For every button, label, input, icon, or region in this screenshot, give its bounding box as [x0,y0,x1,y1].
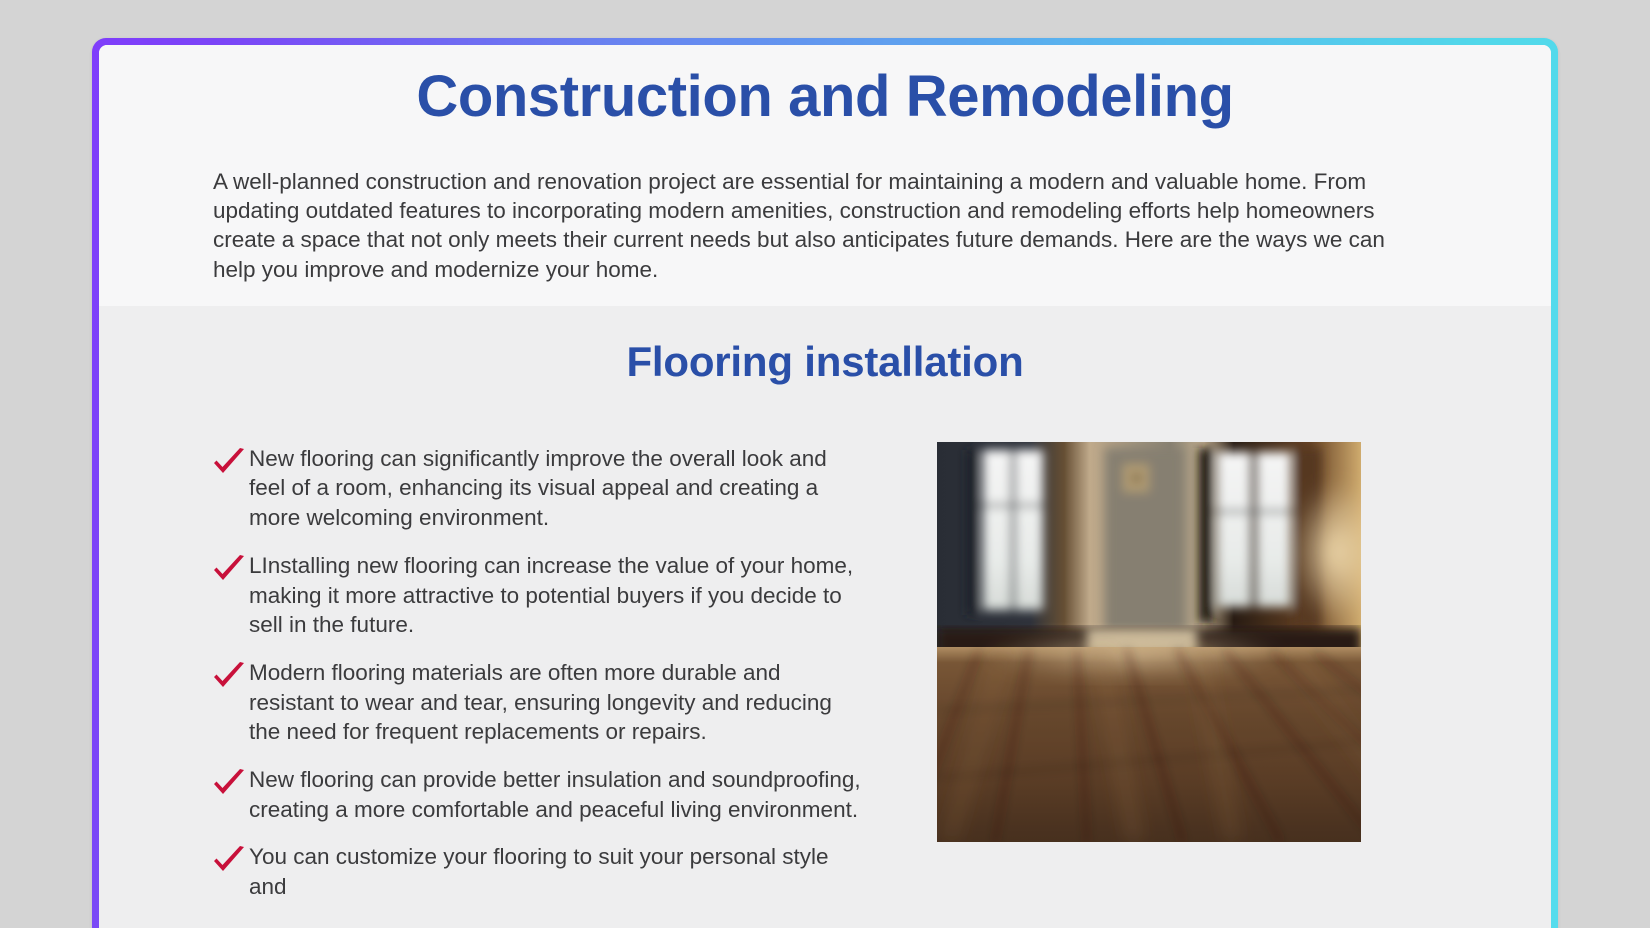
flooring-photo-canvas [937,442,1361,842]
flooring-photo [937,442,1361,842]
bullet-list: New flooring can significantly improve t… [211,440,897,920]
check-icon [211,555,249,585]
list-item-text: New flooring can significantly improve t… [249,444,869,533]
list-item-text: You can customize your flooring to suit … [249,842,869,901]
list-item-text: LInstalling new flooring can increase th… [249,551,869,640]
section-heading: Flooring installation [99,324,1551,396]
list-item: You can customize your flooring to suit … [211,842,897,901]
check-icon [211,448,249,478]
page-title: Construction and Remodeling [99,45,1551,139]
check-icon [211,846,249,876]
list-item: New flooring can significantly improve t… [211,444,897,533]
section-body: New flooring can significantly improve t… [99,396,1551,920]
intro-paragraph: A well-planned construction and renovati… [99,139,1551,284]
check-icon [211,662,249,692]
list-item: New flooring can provide better insulati… [211,765,897,824]
list-item: Modern flooring materials are often more… [211,658,897,747]
flooring-section: Flooring installation New flooring can s… [99,306,1551,928]
list-item: LInstalling new flooring can increase th… [211,551,897,640]
list-item-text: Modern flooring materials are often more… [249,658,869,747]
check-icon [211,769,249,799]
intro-section: Construction and Remodeling A well-plann… [99,45,1551,306]
list-item-text: New flooring can provide better insulati… [249,765,869,824]
slide-inner: Construction and Remodeling A well-plann… [99,45,1551,928]
slide-card: Construction and Remodeling A well-plann… [92,38,1558,928]
